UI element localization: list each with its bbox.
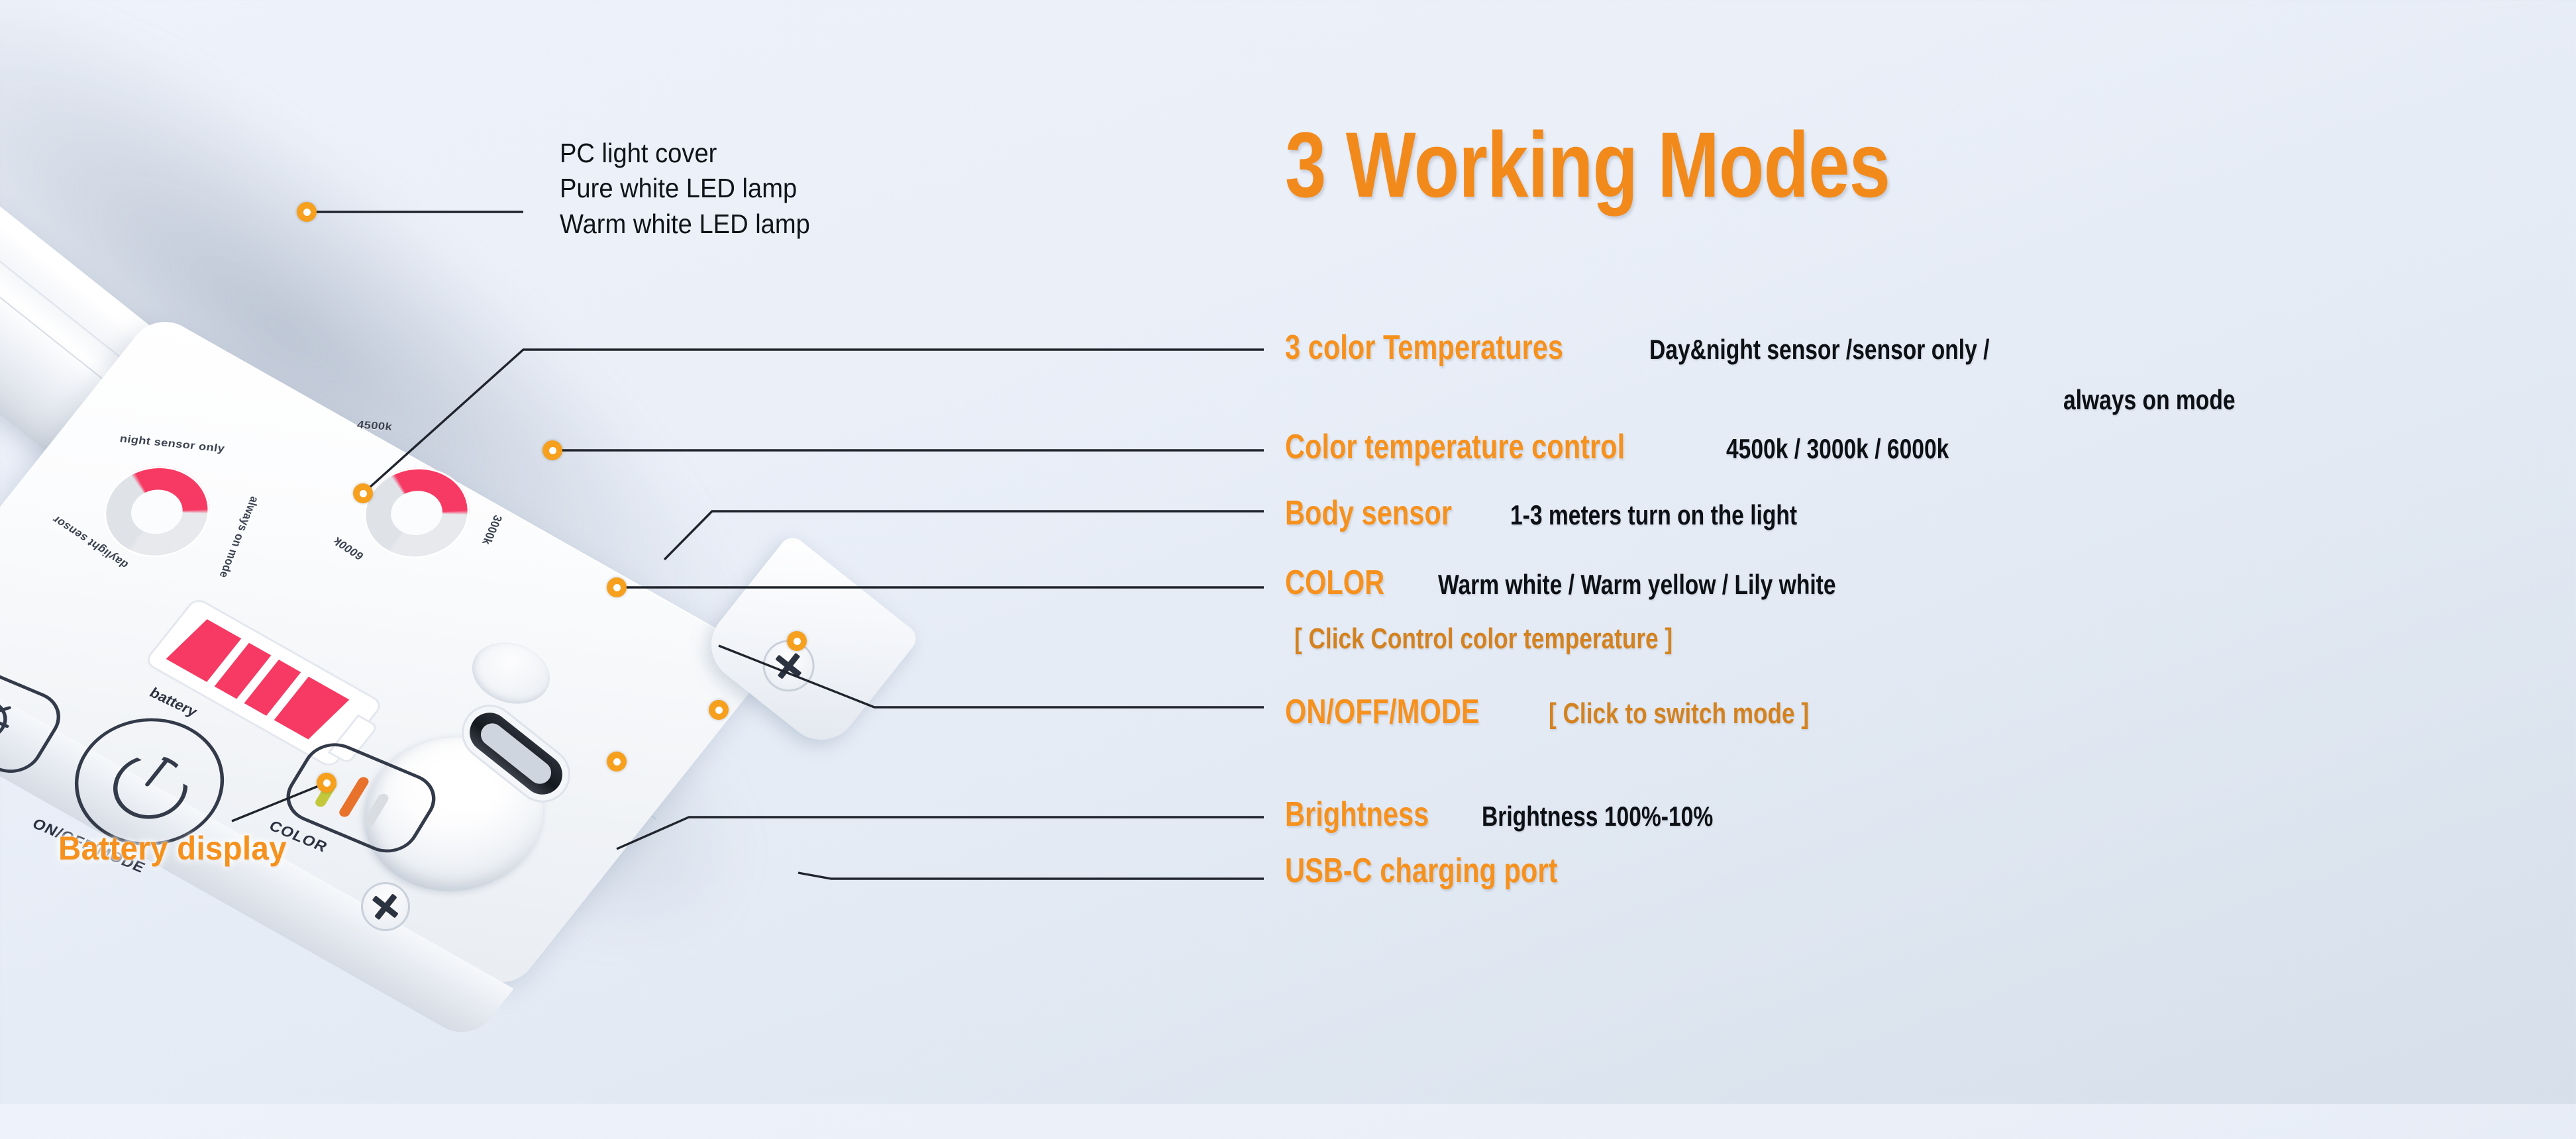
color-icon-bar-white <box>362 792 391 828</box>
feature-note: [ Click to switch mode ] <box>1549 697 1809 730</box>
color-dial-label-4500k: 4500k <box>356 419 393 433</box>
feature-detail: Warm white / Warm yellow / Lily white <box>1438 569 1836 601</box>
feature-heading: 3 color Temperatures <box>1285 328 1563 368</box>
feature-heading: COLOR <box>1285 563 1384 603</box>
feature-note: [ Click Control color temperature ] <box>1294 622 1673 656</box>
feature-row-color: COLOR Warm white / Warm yellow / Lily wh… <box>1285 563 1935 603</box>
feature-row-color-temperature-control: Color temperature control 4500k / 3000k … <box>1285 427 2005 467</box>
callout-dot-brightness[interactable] <box>607 752 627 771</box>
power-icon <box>99 743 202 831</box>
feature-detail-continued: always on mode <box>2063 384 2236 416</box>
color-icon-bar-orange <box>337 775 370 818</box>
callout-dot-body-sensor[interactable] <box>607 577 627 597</box>
feature-note-color: [ Click Control color temperature ] <box>1294 622 1767 656</box>
feature-heading: USB-C charging port <box>1285 851 1557 891</box>
feature-detail: 4500k / 3000k / 6000k <box>1726 433 1949 465</box>
feature-detail: Day&night sensor /sensor only / <box>1649 334 1989 366</box>
product-photo: night sensor only always on mode dayligh… <box>0 0 1020 1139</box>
feature-detail: 1-3 meters turn on the light <box>1510 499 1797 531</box>
label-warm-white-led: Warm white LED lamp <box>560 207 810 242</box>
page-title: 3 Working Modes <box>1285 111 1890 219</box>
feature-row-usb-c: USB-C charging port <box>1285 851 1625 891</box>
feature-heading: Color temperature control <box>1285 427 1625 467</box>
feature-list: 3 Working Modes 3 color Temperatures Day… <box>1285 0 2576 1104</box>
feature-row-brightness: Brightness Brightness 100%-10% <box>1285 795 1771 834</box>
feature-heading: ON/OFF/MODE <box>1285 692 1480 732</box>
label-pc-light-cover: PC light cover <box>560 136 810 171</box>
lamp-part-labels: PC light cover Pure white LED lamp Warm … <box>560 136 810 242</box>
callout-dot-sensor-dial[interactable] <box>353 483 373 503</box>
callout-dot-on-off-mode[interactable] <box>709 700 729 720</box>
sun-icon <box>0 693 15 747</box>
feature-row-body-sensor: Body sensor 1-3 meters turn on the light <box>1285 493 1869 533</box>
feature-detail: Brightness 100%-10% <box>1482 801 1713 832</box>
feature-heading: Body sensor <box>1285 493 1452 533</box>
label-pure-white-led: Pure white LED lamp <box>560 171 810 206</box>
callout-dot-color-button[interactable] <box>787 631 807 651</box>
infographic-stage: night sensor only always on mode dayligh… <box>0 0 2576 1104</box>
label-battery-display: Battery display <box>58 829 287 867</box>
callout-dot-battery-display[interactable] <box>317 773 336 793</box>
feature-row-color-temperatures: 3 color Temperatures Day&night sensor /s… <box>1285 328 2075 368</box>
callout-dot-led-cover[interactable] <box>297 202 317 222</box>
feature-row-on-off-mode: ON/OFF/MODE [ Click to switch mode ] <box>1285 692 1874 732</box>
feature-heading: Brightness <box>1285 795 1429 834</box>
callout-dot-color-dial[interactable] <box>542 440 562 460</box>
